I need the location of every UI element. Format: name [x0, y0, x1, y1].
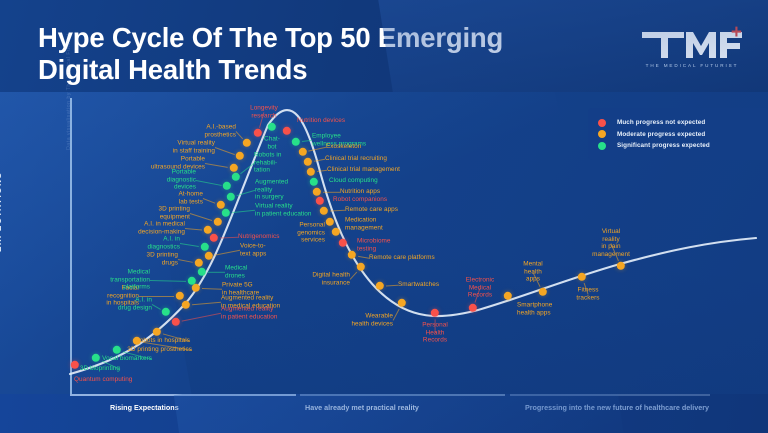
legend-item-0: Much progress not expected: [598, 119, 762, 127]
data-point-label: Nutrition apps: [340, 188, 380, 196]
data-point-label: Exoskeleton: [326, 143, 361, 151]
data-point-label: Medical transportation platforms: [110, 269, 150, 292]
data-point-label: Cloud computing: [329, 177, 378, 185]
data-point-label: Remote care apps: [345, 206, 398, 214]
hype-cycle-infographic: Hype Cycle Of The Top 50 Emerging Digita…: [0, 0, 768, 433]
data-point-label: Virtual reality in staff training: [173, 139, 215, 154]
data-point-label: A.I.-based prosthetics: [205, 123, 236, 138]
data-point-label: Clinical trial recruiting: [325, 155, 387, 163]
data-point-label: Medical drones: [225, 264, 247, 279]
label-leader-line: [323, 192, 340, 193]
logo-plus-icon: +: [731, 23, 742, 42]
legend-label-2: Significant progress expected: [617, 142, 710, 149]
data-point-label: Private 5G in healthcare: [222, 281, 259, 296]
phase-label-future: Progressing into the new future of healt…: [522, 403, 712, 412]
page-title: Hype Cycle Of The Top 50 Emerging Digita…: [38, 22, 638, 86]
data-point-label: Wearable health devices: [351, 312, 393, 327]
data-point-label: A.I. in medical decision-making: [138, 220, 185, 235]
phase-label-practical: Have already met practical reality: [305, 403, 419, 412]
data-point-label: Augmented reality in surgery: [255, 179, 288, 202]
data-point-label: Smartwatches: [398, 281, 439, 289]
tmf-logo: + THE MEDICAL FUTURIST: [640, 28, 744, 76]
data-point-label: Robot companions: [333, 196, 387, 204]
data-point-label: Augmented reality in medical education: [221, 294, 280, 309]
data-point-label: Personal genomics services: [297, 222, 325, 245]
title-line-1: Hype Cycle Of The Top 50 Emerging: [38, 22, 638, 54]
data-point-label: Portable diagnostic devices: [167, 169, 196, 192]
footer-rule-3: [510, 394, 710, 396]
data-point-label: Digital health insurance: [312, 271, 350, 286]
logo-monogram-icon: [640, 28, 744, 60]
data-point-label: Voice-to- text apps: [240, 242, 266, 257]
data-point-label: 3D printing prosthetics: [127, 346, 192, 354]
legend-item-2: Significant progress expected: [598, 142, 762, 150]
legend-swatch-green: [598, 142, 606, 150]
data-point-label: At-home lab tests: [178, 190, 203, 205]
label-leader-line: [139, 296, 174, 297]
data-point-label: Medication management: [345, 216, 383, 231]
data-point-label: Nutrition devices: [297, 117, 345, 125]
footer-rule-2: [300, 394, 505, 396]
label-leader-line: [208, 272, 225, 273]
logo-tagline: THE MEDICAL FUTURIST: [640, 63, 744, 68]
data-point-label: Smartphone health apps: [517, 301, 552, 316]
data-point-label: Clinical trial management: [327, 166, 400, 174]
header-band: Hype Cycle Of The Top 50 Emerging Digita…: [0, 0, 768, 92]
logo-mark: +: [640, 28, 744, 60]
title-line-2: Digital Health Trends: [38, 54, 638, 86]
data-point-label: Portable ultrasound devices: [151, 155, 205, 170]
legend-label-0: Much progress not expected: [617, 119, 705, 126]
data-point-label: Chat- bot: [264, 135, 280, 150]
legend-swatch-orange: [598, 130, 606, 138]
data-point-label: Nutrigenomics: [238, 233, 280, 241]
legend-item-1: Moderate progress expected: [598, 130, 762, 138]
data-point-label: A.I. in diagnostics: [147, 235, 180, 250]
phase-label-rising: Rising Expectations: [110, 403, 179, 412]
data-point-label: 3D printing drugs: [147, 251, 178, 266]
legend: Much progress not expected Moderate prog…: [588, 108, 768, 160]
data-point-label: Remote care platforms: [369, 254, 435, 262]
label-leader-line: [435, 319, 436, 333]
data-point-label: Virtual reality in patient education: [255, 202, 311, 217]
footer-rule-1: [70, 394, 296, 396]
legend-label-1: Moderate progress expected: [617, 131, 705, 138]
data-point-label: Microbiome testing: [357, 237, 391, 252]
data-point-label: Robots in rehabili- tation: [254, 152, 281, 175]
legend-swatch-red: [598, 119, 606, 127]
footer-band: Rising Expectations Have already met pra…: [0, 394, 768, 433]
data-point-label: Quantum computing: [74, 376, 132, 384]
data-point-label: 3D printing equipment: [159, 205, 190, 220]
